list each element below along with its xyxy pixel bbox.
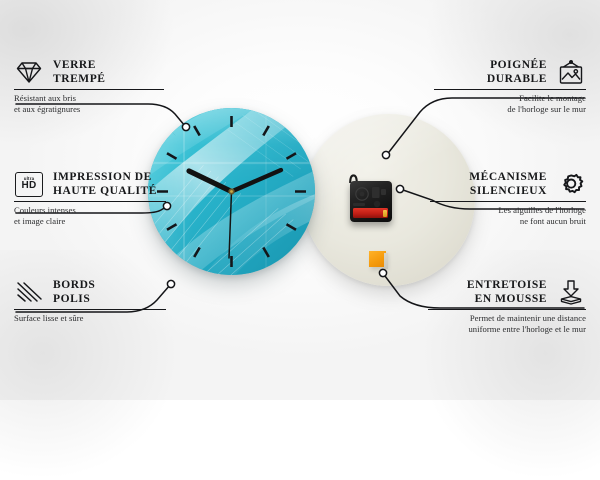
foam-spacer-arrow-icon <box>556 278 586 306</box>
callout-bords-polis[interactable]: BORDS POLIS Surface lisse et sûre <box>14 278 166 324</box>
callout-impression-haute-qualite[interactable]: ultra HD IMPRESSION DE HAUTE QUALITÉ Cou… <box>14 170 166 228</box>
callout-title: ENTRETOISE EN MOUSSE <box>467 278 547 306</box>
callout-divider <box>14 201 166 202</box>
quartz-clock-mechanism <box>350 181 392 222</box>
callout-title: IMPRESSION DE HAUTE QUALITÉ <box>53 170 157 198</box>
callout-divider <box>428 309 586 310</box>
gear-icon <box>556 170 586 198</box>
callout-verre-trempe[interactable]: VERRE TREMPÉ Résistant aux bris et aux é… <box>14 58 164 116</box>
callout-divider <box>14 309 166 310</box>
badge-hd-label: HD <box>21 181 36 191</box>
callout-title: VERRE TREMPÉ <box>53 58 106 86</box>
diamond-icon <box>14 58 44 86</box>
callout-description: Les aiguilles de l'horloge ne font aucun… <box>430 205 586 228</box>
callout-description: Facilite le montage de l'horloge sur le … <box>434 93 586 116</box>
callout-description: Surface lisse et sûre <box>14 313 166 324</box>
callout-title: POIGNÉE DURABLE <box>487 58 547 86</box>
clock-hands <box>148 108 315 275</box>
callout-title: MÉCANISME SILENCIEUX <box>469 170 547 198</box>
callout-header: BORDS POLIS <box>14 278 166 306</box>
picture-hanger-icon <box>556 58 586 86</box>
callout-header: POIGNÉE DURABLE <box>434 58 586 86</box>
callout-description: Résistant aux bris et aux égratignures <box>14 93 164 116</box>
callout-divider <box>14 89 164 90</box>
callout-description: Couleurs intenses et image claire <box>14 205 166 228</box>
aa-battery <box>353 208 388 218</box>
orange-foam-spacer <box>369 251 386 267</box>
callout-divider <box>430 201 586 202</box>
callout-divider <box>434 89 586 90</box>
callout-entretoise-en-mousse[interactable]: ENTRETOISE EN MOUSSE Permet de maintenir… <box>428 278 586 336</box>
ultra-hd-badge-icon: ultra HD <box>14 170 44 198</box>
callout-header: ENTRETOISE EN MOUSSE <box>428 278 586 306</box>
callout-header: ultra HD IMPRESSION DE HAUTE QUALITÉ <box>14 170 166 198</box>
callout-header: MÉCANISME SILENCIEUX <box>430 170 586 198</box>
turquoise-feather-clock-face <box>148 108 315 275</box>
callout-header: VERRE TREMPÉ <box>14 58 164 86</box>
callout-description: Permet de maintenir une distance uniform… <box>428 313 586 336</box>
polished-edges-icon <box>14 278 44 306</box>
callout-title: BORDS POLIS <box>53 278 95 306</box>
callout-mecanisme-silencieux[interactable]: MÉCANISME SILENCIEUX Les aiguilles de l'… <box>430 170 586 228</box>
product-infographic: VERRE TREMPÉ Résistant aux bris et aux é… <box>0 0 600 400</box>
callout-poignee-durable[interactable]: POIGNÉE DURABLE Facilite le montage de <box>434 58 586 116</box>
